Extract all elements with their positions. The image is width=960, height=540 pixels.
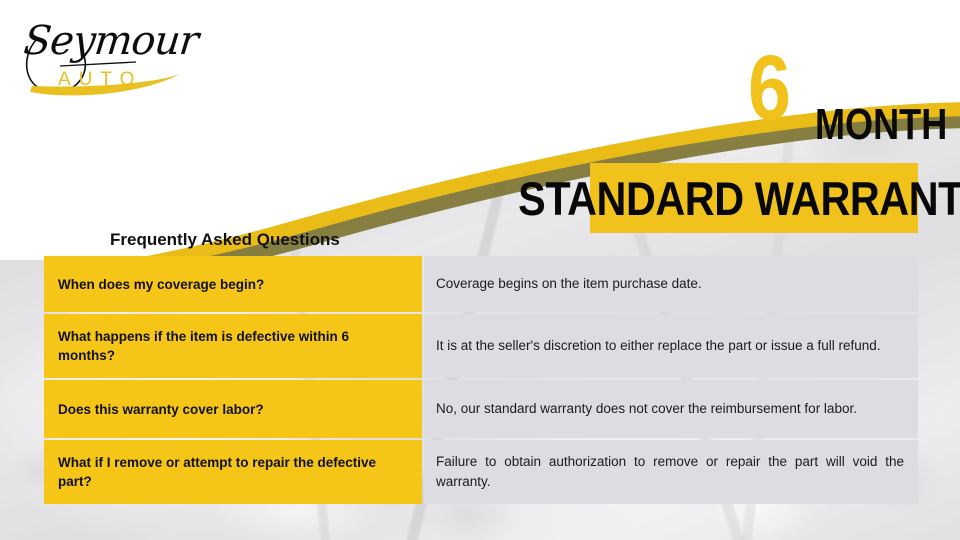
warranty-duration-unit: MONTH [815, 103, 947, 147]
table-row: What happens if the item is defective wi… [44, 314, 918, 378]
faq-table: When does my coverage begin? Coverage be… [44, 256, 918, 504]
table-row: Does this warranty cover labor? No, our … [44, 380, 918, 438]
faq-answer-cell: No, our standard warranty does not cover… [424, 380, 918, 438]
faq-question-cell: What happens if the item is defective wi… [44, 314, 422, 378]
table-row: When does my coverage begin? Coverage be… [44, 256, 918, 312]
warranty-duration-number: 6 [748, 42, 789, 134]
faq-answer-cell: Coverage begins on the item purchase dat… [424, 256, 918, 312]
faq-question-cell: Does this warranty cover labor? [44, 380, 422, 438]
table-row: What if I remove or attempt to repair th… [44, 440, 918, 504]
faq-question-cell: What if I remove or attempt to repair th… [44, 440, 422, 504]
warranty-slide: Seymour AUTO 6 MONTH STANDARD WARRANTY F… [0, 0, 960, 540]
standard-warranty-banner-text: STANDARD WARRANTY [518, 175, 960, 222]
faq-answer-cell: Failure to obtain authorization to remov… [424, 440, 918, 504]
faq-heading: Frequently Asked Questions [110, 230, 340, 250]
standard-warranty-banner: STANDARD WARRANTY [590, 163, 918, 233]
faq-question-cell: When does my coverage begin? [44, 256, 422, 312]
logo-sub-wordmark: AUTO [58, 69, 142, 91]
seymour-auto-logo[interactable]: Seymour AUTO [14, 12, 204, 104]
logo-wordmark: Seymour [22, 18, 200, 64]
faq-answer-cell: It is at the seller's discretion to eith… [424, 314, 918, 378]
